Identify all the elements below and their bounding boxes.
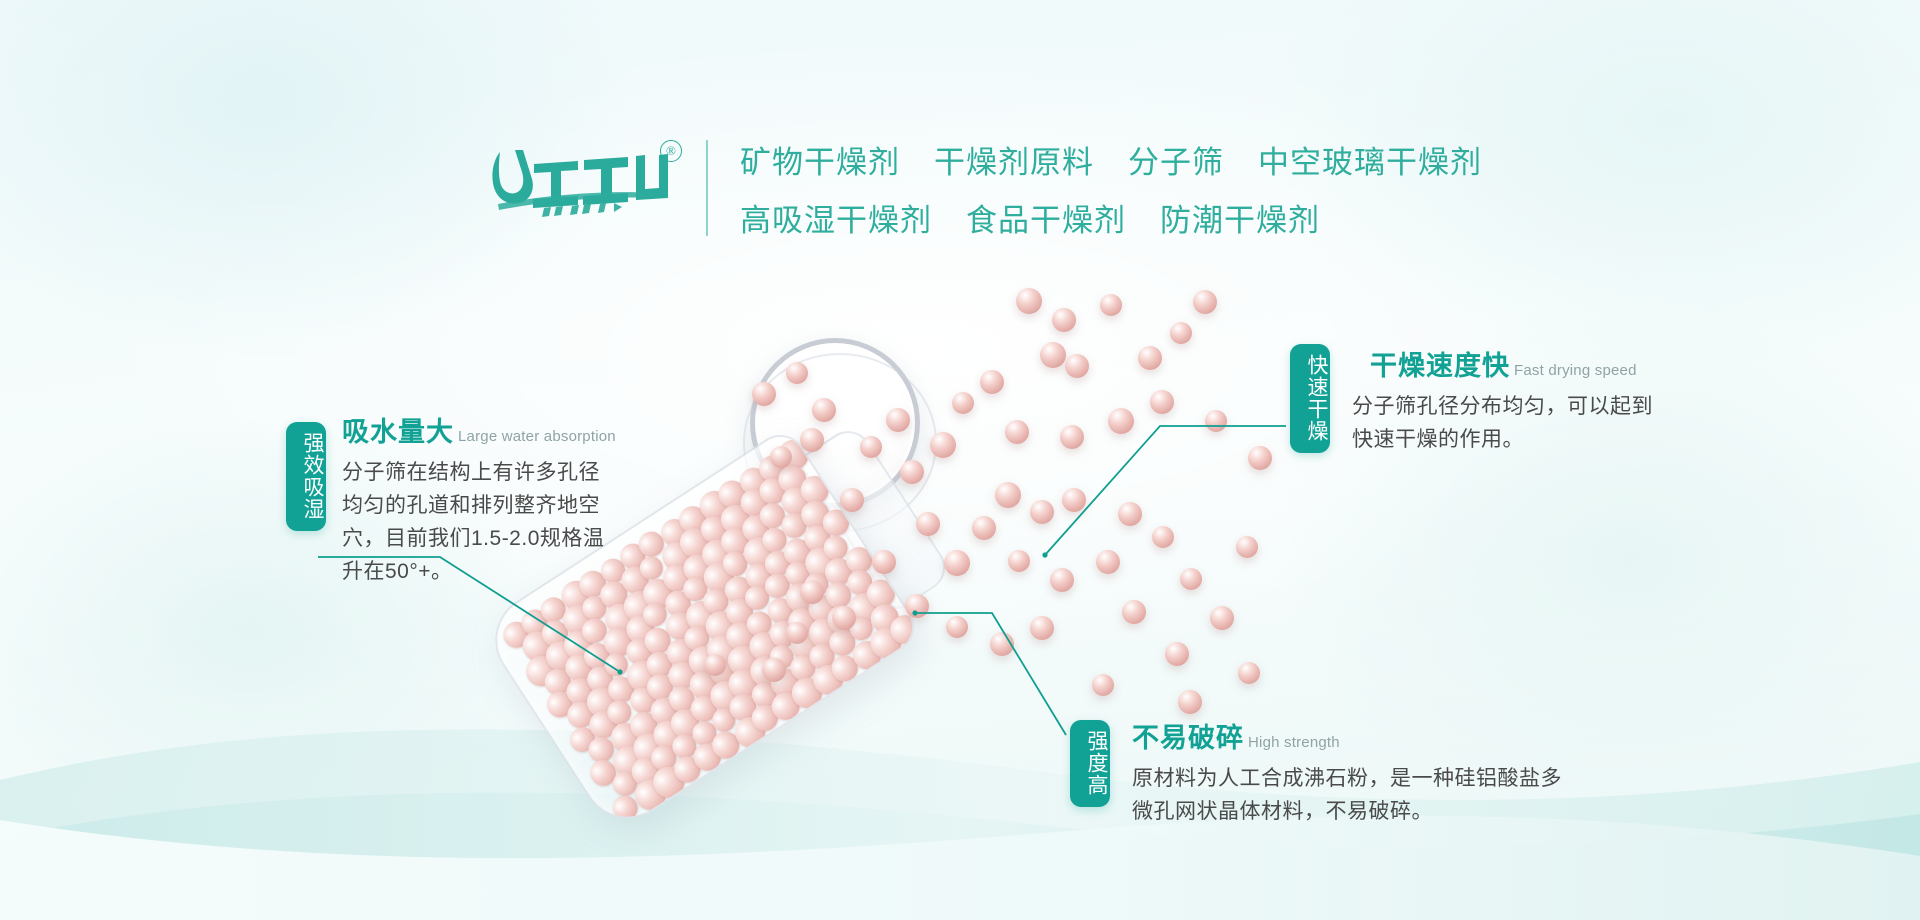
desiccant-bead [1180, 568, 1202, 590]
desiccant-bead [1096, 550, 1120, 574]
desiccant-bead [762, 658, 786, 682]
desiccant-bead [1060, 425, 1084, 449]
yaou-logo-mark [486, 144, 672, 224]
keyword-molecular-sieve[interactable]: 分子筛 [1128, 142, 1224, 184]
desiccant-bead [812, 398, 836, 422]
desiccant-bead [1165, 642, 1189, 666]
desiccant-bead [832, 606, 856, 630]
keyword-mineral-desiccant[interactable]: 矿物干燥剂 [740, 142, 900, 184]
desiccant-bead [1040, 342, 1066, 368]
callout-title-absorption: 吸水量大 [342, 410, 454, 449]
desiccant-bead [972, 516, 996, 540]
desiccant-bead [905, 594, 929, 618]
desiccant-bead [704, 654, 726, 676]
desiccant-bead [1065, 354, 1089, 378]
desiccant-bead [990, 632, 1014, 656]
callout-body-absorption: 分子筛在结构上有许多孔径均匀的孔道和排列整齐地空穴，目前我们1.5-2.0规格温… [342, 456, 608, 588]
desiccant-bead [946, 616, 968, 638]
desiccant-bead [930, 432, 956, 458]
banner-stage: ® 矿物干燥剂 干燥剂原料 分子筛 中空玻璃干燥剂 高吸湿干燥剂 食品干燥剂 防… [0, 0, 1920, 920]
desiccant-bead [980, 370, 1004, 394]
desiccant-bead [800, 580, 824, 604]
header-keyword-list: 矿物干燥剂 干燥剂原料 分子筛 中空玻璃干燥剂 高吸湿干燥剂 食品干燥剂 防潮干… [740, 142, 1740, 242]
desiccant-bead [840, 488, 864, 512]
banner-header: ® 矿物干燥剂 干燥剂原料 分子筛 中空玻璃干燥剂 高吸湿干燥剂 食品干燥剂 防… [0, 0, 1920, 270]
desiccant-bead [752, 382, 776, 406]
callout-subtitle-strength: High strength [1248, 734, 1340, 751]
desiccant-bead [1050, 568, 1074, 592]
desiccant-bead [1178, 690, 1202, 714]
callout-title-strength: 不易破碎 [1132, 716, 1244, 755]
desiccant-bead [952, 392, 974, 414]
desiccant-bead [1152, 526, 1174, 548]
callout-title-speed: 干燥速度快 [1370, 344, 1510, 383]
desiccant-bead [1193, 290, 1217, 314]
desiccant-bead [860, 436, 882, 458]
desiccant-bead [786, 622, 808, 644]
brand-logo[interactable]: ® [486, 144, 676, 236]
desiccant-bead [1052, 308, 1076, 332]
desiccant-bead [1248, 446, 1272, 470]
badge-high-strength: 强度高 [1070, 720, 1110, 807]
desiccant-bead [1150, 390, 1174, 414]
desiccant-bead [1092, 674, 1114, 696]
desiccant-bead [1210, 606, 1234, 630]
callout-high-strength: 强度高 不易破碎 High strength 原材料为人工合成沸石粉，是一种硅铝… [1070, 716, 1564, 828]
desiccant-bead [800, 428, 824, 452]
desiccant-bead [916, 512, 940, 536]
keyword-food-desiccant[interactable]: 食品干燥剂 [966, 200, 1126, 242]
desiccant-bead [944, 550, 970, 576]
badge-fast-drying: 快速干燥 [1290, 344, 1330, 453]
desiccant-bead [886, 408, 910, 432]
registered-trademark-icon: ® [660, 140, 682, 162]
desiccant-bead [1205, 410, 1227, 432]
keyword-high-moisture-desiccant[interactable]: 高吸湿干燥剂 [740, 200, 932, 242]
keyword-row-1: 矿物干燥剂 干燥剂原料 分子筛 中空玻璃干燥剂 [740, 142, 1740, 184]
desiccant-bead [1122, 600, 1146, 624]
desiccant-bead [1100, 294, 1122, 316]
callout-body-speed: 分子筛孔径分布均匀，可以起到快速干燥的作用。 [1352, 390, 1664, 456]
badge-strong-moisture-absorption: 强效吸湿 [286, 422, 326, 531]
desiccant-bead [1138, 346, 1162, 370]
desiccant-bead [872, 550, 896, 574]
callout-body-strength: 原材料为人工合成沸石粉，是一种硅铝酸盐多微孔网状晶体材料，不易破碎。 [1132, 762, 1564, 828]
desiccant-bead [900, 460, 924, 484]
desiccant-bead [1118, 502, 1142, 526]
desiccant-bead [1170, 322, 1192, 344]
desiccant-bead [786, 362, 808, 384]
callout-subtitle-speed: Fast drying speed [1514, 362, 1637, 379]
keyword-moisture-proof-desiccant[interactable]: 防潮干燥剂 [1160, 200, 1320, 242]
keyword-row-2: 高吸湿干燥剂 食品干燥剂 防潮干燥剂 [740, 200, 1740, 242]
desiccant-bead [995, 482, 1021, 508]
desiccant-bead [1108, 408, 1134, 434]
header-divider [706, 140, 708, 236]
desiccant-bead [1008, 550, 1030, 572]
desiccant-bead [1062, 488, 1086, 512]
desiccant-bead [770, 446, 792, 468]
keyword-desiccant-raw-material[interactable]: 干燥剂原料 [934, 142, 1094, 184]
desiccant-bead [1030, 616, 1054, 640]
callout-large-water-absorption: 强效吸湿 吸水量大 Large water absorption 分子筛在结构上… [286, 410, 616, 588]
desiccant-bead [1016, 288, 1042, 314]
callout-fast-drying-speed: 快速干燥 干燥速度快 Fast drying speed 分子筛孔径分布均匀，可… [1290, 344, 1664, 456]
keyword-insulating-glass-desiccant[interactable]: 中空玻璃干燥剂 [1258, 142, 1482, 184]
desiccant-bead [1030, 500, 1054, 524]
desiccant-bead [1005, 420, 1029, 444]
desiccant-bead [1236, 536, 1258, 558]
desiccant-bead [1238, 662, 1260, 684]
callout-subtitle-absorption: Large water absorption [458, 428, 616, 445]
